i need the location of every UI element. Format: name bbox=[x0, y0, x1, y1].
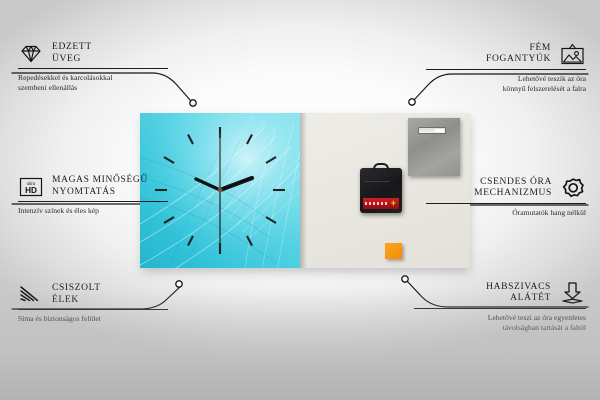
product-image: + bbox=[140, 113, 470, 268]
connector-dot-polished-edges bbox=[176, 281, 182, 287]
feature-title: CSENDES ÓRA MECHANIZMUS bbox=[474, 177, 552, 200]
quartz-clock-mechanism: + bbox=[360, 168, 402, 213]
mechanism-seam bbox=[364, 181, 390, 182]
feature-subtitle: Sima és biztonságos felület bbox=[18, 314, 168, 324]
mechanism-hanging-loop bbox=[373, 163, 389, 171]
feature-divider bbox=[18, 201, 168, 202]
feature-title: HABSZIVACS ALÁTÉT bbox=[486, 282, 551, 305]
clock-hands bbox=[196, 133, 252, 247]
infographic-canvas: + EDZETT ÜVEG Repedésekkel és karcolások… bbox=[0, 0, 600, 400]
feature-silent-mechanism[interactable]: CSENDES ÓRA MECHANIZMUS Óramutatók hang … bbox=[426, 176, 586, 218]
feature-divider bbox=[426, 203, 586, 204]
beveled-edge-icon bbox=[18, 284, 44, 305]
foam-pad-arrow-icon bbox=[559, 281, 586, 305]
battery: + bbox=[363, 198, 399, 209]
feature-divider bbox=[426, 69, 586, 70]
feature-divider bbox=[414, 308, 586, 309]
ultra-hd-icon: ultra HD bbox=[18, 176, 44, 198]
gear-icon bbox=[560, 176, 586, 200]
feature-title: FÉM FOGANTYÚK bbox=[486, 43, 551, 66]
battery-plus-icon: + bbox=[391, 199, 396, 208]
feature-tempered-glass[interactable]: EDZETT ÜVEG Repedésekkel és karcolásokka… bbox=[18, 42, 168, 92]
hanger-keyhole-slot bbox=[418, 127, 446, 134]
feature-foam-pad[interactable]: HABSZIVACS ALÁTÉT Lehetővé teszi az óra … bbox=[414, 281, 586, 332]
picture-hanger-icon bbox=[559, 42, 586, 66]
connector-dot-tempered-glass bbox=[190, 100, 196, 106]
feature-subtitle: Lehetővé teszik az óra könnyű felszerelé… bbox=[426, 74, 586, 93]
feature-subtitle: Intenzív színek és éles kép bbox=[18, 206, 168, 216]
connector-dot-foam-pad bbox=[402, 276, 408, 282]
svg-text:HD: HD bbox=[25, 186, 37, 195]
feature-subtitle: Lehetővé teszi az óra egyenletes távolsá… bbox=[414, 313, 586, 332]
feature-high-quality-print[interactable]: ultra HD MAGAS MINŐSÉGŰ NYOMTATÁS Intenz… bbox=[18, 175, 168, 216]
feature-title: EDZETT ÜVEG bbox=[52, 42, 92, 65]
feature-title: MAGAS MINŐSÉGŰ NYOMTATÁS bbox=[52, 175, 148, 198]
connector-dot-metal-handles bbox=[409, 99, 415, 105]
feature-divider bbox=[18, 309, 168, 310]
feature-polished-edges[interactable]: CSISZOLT ÉLEK Sima és biztonságos felüle… bbox=[18, 283, 168, 324]
diamond-icon bbox=[18, 44, 44, 64]
foam-pad bbox=[385, 243, 402, 259]
feature-title: CSISZOLT ÉLEK bbox=[52, 283, 101, 306]
feature-subtitle: Óramutatók hang nélkül bbox=[426, 208, 586, 218]
feature-metal-handles[interactable]: FÉM FOGANTYÚK Lehetővé teszik az óra kön… bbox=[426, 42, 586, 93]
metal-hanger-plate bbox=[408, 118, 460, 176]
feature-subtitle: Repedésekkel és karcolásokkal szembeni e… bbox=[18, 73, 168, 92]
feature-divider bbox=[18, 68, 168, 69]
